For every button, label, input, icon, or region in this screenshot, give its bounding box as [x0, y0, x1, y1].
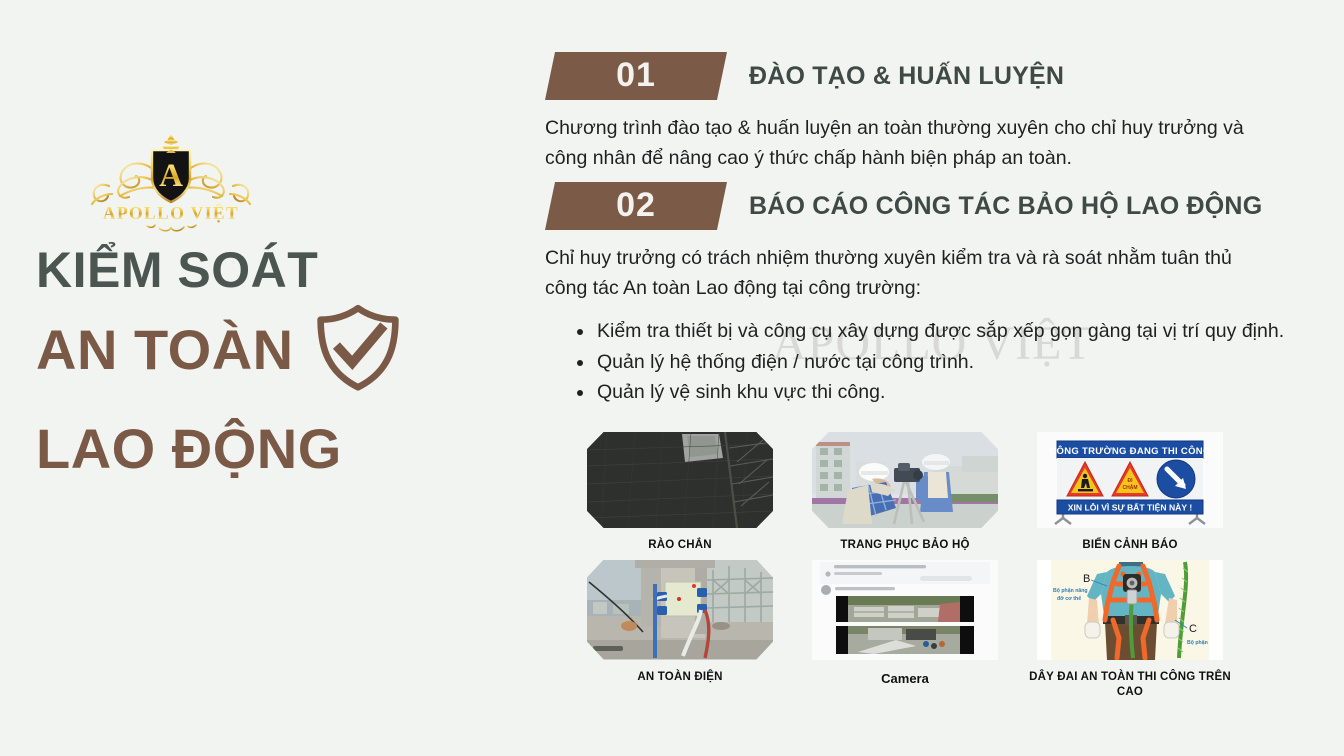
section-02: 02 BÁO CÁO CÔNG TÁC BẢO HỘ LAO ĐỘNG Chỉ … [545, 182, 1285, 408]
headline-line-3: LAO ĐỘNG [36, 415, 546, 482]
safety-net-barrier-photo [587, 432, 773, 528]
harness-label-c: C [1189, 623, 1197, 635]
camera-feed-screenshot [812, 560, 998, 660]
warning-sign-photo: CÔNG TRƯỜNG ĐANG THI CÔNG ĐI CH [1037, 432, 1223, 528]
gallery-item-an-toan-dien: AN TOÀN ĐIỆN [575, 560, 785, 701]
warning-sign-top-text: CÔNG TRƯỜNG ĐANG THI CÔNG [1049, 445, 1210, 457]
gallery-item-camera: Camera [800, 560, 1010, 701]
gallery-caption: TRANG PHỤC BẢO HỘ [840, 538, 969, 554]
safety-harness-diagram: B Bộ phận nâng đỡ cơ thể C Bộ phận [1037, 560, 1223, 660]
harness-label-c-sub: Bộ phận [1187, 640, 1208, 646]
section-02-body: Chỉ huy trưởng có trách nhiệm thường xuy… [545, 244, 1275, 303]
protective-clothing-photo [812, 432, 998, 528]
headline-line-2: AN TOÀN [36, 316, 294, 383]
section-01-number-badge: 01 [545, 52, 727, 100]
gallery-caption: BIỂN CẢNH BÁO [1082, 538, 1177, 554]
harness-label-b-sub-1: Bộ phận nâng [1053, 588, 1088, 594]
section-02-bullet-list: Kiểm tra thiết bị và công cụ xây dựng đư… [575, 317, 1285, 407]
list-item: Kiểm tra thiết bị và công cụ xây dựng đư… [575, 317, 1285, 346]
left-panel: A APOLLO VIỆT KIỂM SOÁT AN TOÀN [0, 0, 545, 756]
shield-check-icon [312, 301, 404, 393]
svg-text:A: A [159, 158, 183, 194]
gallery-item-rao-chan: RÀO CHẮN [575, 432, 785, 554]
gallery-item-day-dai-an-toan: B Bộ phận nâng đỡ cơ thể C Bộ phận DÂY Đ… [1025, 560, 1235, 701]
headline-block: KIỂM SOÁT AN TOÀN LAO ĐỘNG [36, 244, 546, 482]
section-02-number-badge: 02 [545, 182, 727, 230]
gallery-grid: RÀO CHẮN [575, 432, 1235, 701]
gallery-caption: RÀO CHẮN [648, 538, 712, 554]
brand-logo: A APOLLO VIỆT [76, 128, 266, 232]
headline-line-1: KIỂM SOÁT [36, 244, 546, 297]
brand-logo-name: APOLLO VIỆT [103, 203, 239, 223]
section-01: 01 ĐÀO TẠO & HUẤN LUYỆN Chương trình đào… [545, 52, 1285, 173]
section-02-title: BÁO CÁO CÔNG TÁC BẢO HỘ LAO ĐỘNG [749, 192, 1262, 221]
warning-sign-middle-text-2: CHẬM [1123, 484, 1138, 491]
section-02-head: 02 BÁO CÁO CÔNG TÁC BẢO HỘ LAO ĐỘNG [545, 182, 1285, 230]
gallery-caption: DÂY ĐAI AN TOÀN THI CÔNG TRÊN CAO [1025, 670, 1235, 701]
section-01-head: 01 ĐÀO TẠO & HUẤN LUYỆN [545, 52, 1285, 100]
warning-sign-bottom-text: XIN LỖI VÌ SỰ BẤT TIỆN NÀY ! [1068, 502, 1193, 513]
gallery-caption: Camera [881, 670, 929, 688]
harness-label-b-sub-2: đỡ cơ thể [1057, 595, 1081, 602]
warning-sign-middle-text-1: ĐI [1128, 478, 1134, 484]
gallery-caption: AN TOÀN ĐIỆN [637, 670, 722, 686]
gallery-item-trang-phuc-bao-ho: TRANG PHỤC BẢO HỘ [800, 432, 1010, 554]
poster-root: A APOLLO VIỆT KIỂM SOÁT AN TOÀN [0, 0, 1344, 756]
list-item: Quản lý vệ sinh khu vực thi công. [575, 378, 1285, 407]
section-01-body: Chương trình đào tạo & huấn luyện an toà… [545, 114, 1275, 173]
gallery-item-bien-canh-bao: CÔNG TRƯỜNG ĐANG THI CÔNG ĐI CH [1025, 432, 1235, 554]
list-item: Quản lý hệ thống điện / nước tại công tr… [575, 348, 1285, 377]
harness-label-b: B [1083, 573, 1090, 585]
section-01-title: ĐÀO TẠO & HUẤN LUYỆN [749, 62, 1064, 91]
electrical-safety-photo [587, 560, 773, 660]
ornamental-crest-logo: A APOLLO VIỆT [76, 128, 266, 232]
headline-line-2-row: AN TOÀN [36, 307, 546, 393]
